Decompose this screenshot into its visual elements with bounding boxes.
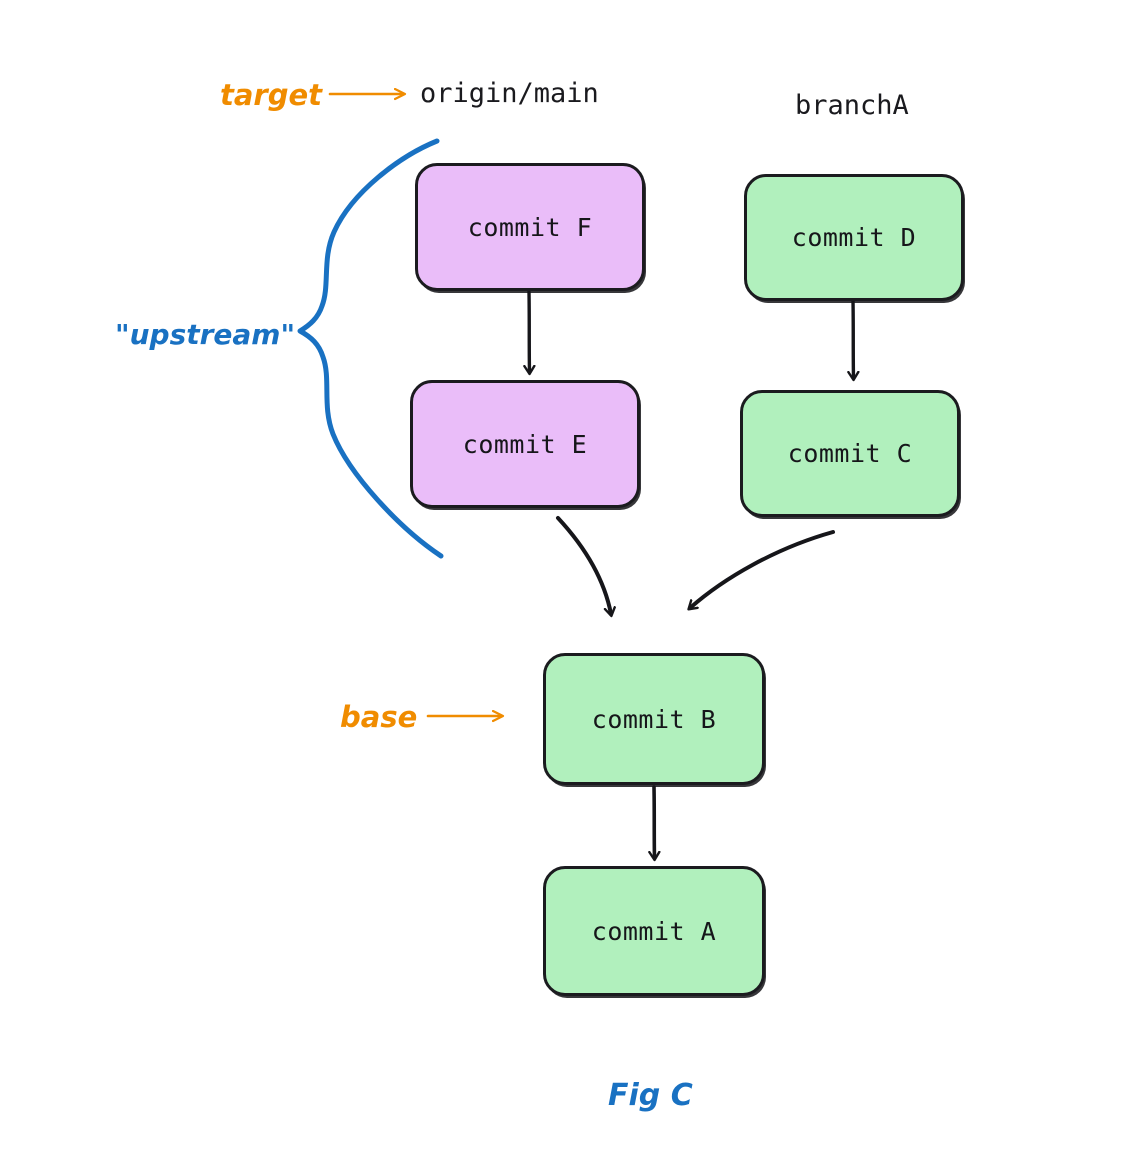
node-commit-f[interactable]: commit F [415,163,645,291]
edge-commit-c-to-commit-b [690,532,833,608]
node-commit-c[interactable]: commit C [740,390,960,517]
edge-commit-b-to-commit-a [654,787,655,858]
node-label-commit-e: commit E [463,430,587,459]
branch-label-branch-a: branchA [795,90,909,121]
edge-commit-d-to-commit-c [853,301,854,378]
node-commit-e[interactable]: commit E [410,380,640,508]
annotation-target: target [220,78,322,112]
node-commit-d[interactable]: commit D [744,174,964,301]
annotation-upstream: "upstream" [115,318,295,351]
node-label-commit-c: commit C [788,439,912,468]
figure-caption: Fig C [608,1078,693,1113]
edge-commit-f-to-commit-e [529,292,530,372]
node-commit-a[interactable]: commit A [543,866,765,996]
branch-label-origin-main: origin/main [420,78,599,109]
node-label-commit-d: commit D [792,223,916,252]
diagram-canvas: origin/main branchA target "upstream" ba… [0,0,1148,1170]
node-label-commit-b: commit B [592,705,716,734]
node-label-commit-a: commit A [592,917,716,946]
edge-commit-e-to-commit-b [558,518,611,614]
annotation-base: base [340,700,417,734]
node-label-commit-f: commit F [468,213,592,242]
node-commit-b[interactable]: commit B [543,653,765,785]
